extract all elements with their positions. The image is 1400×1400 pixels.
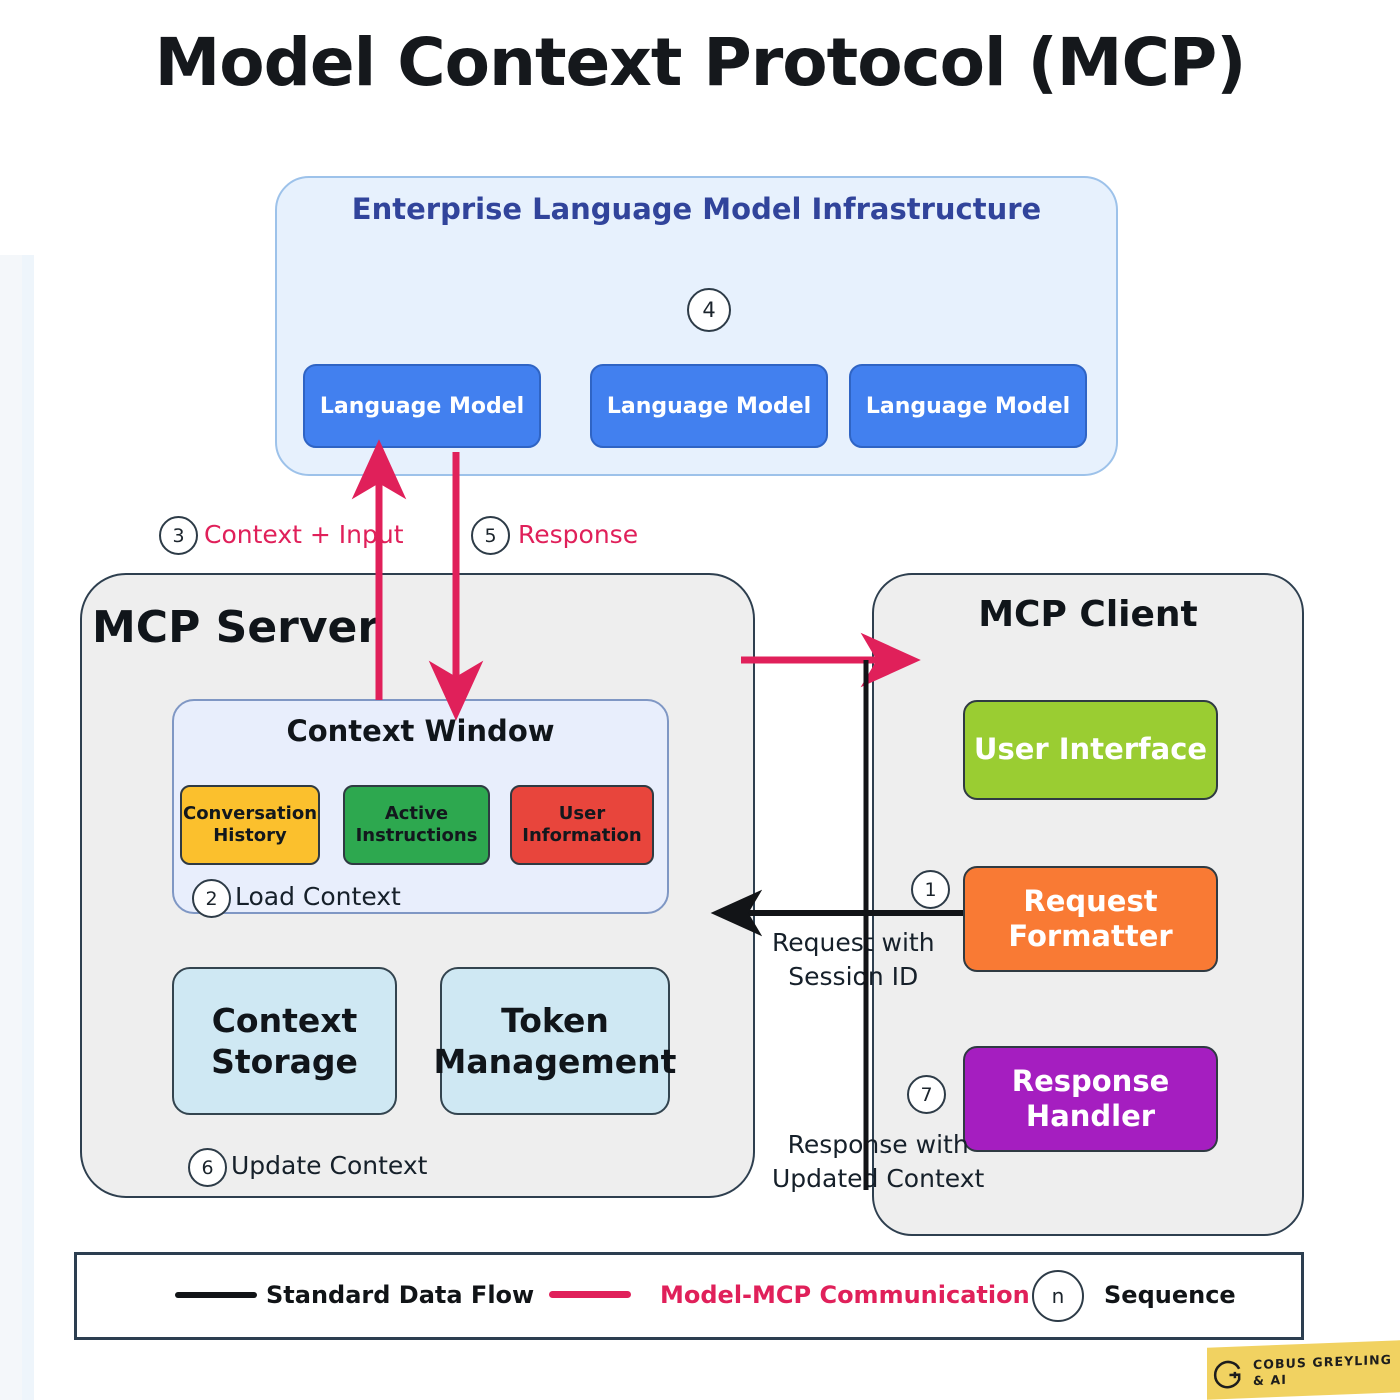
sequence-badge-3-text: 3 (172, 525, 184, 547)
store-line-1: Context (212, 1000, 358, 1041)
flow-label-context-input: Context + Input (204, 520, 404, 549)
language-model-box-3[interactable]: Language Model (849, 364, 1087, 448)
client-box-line-1: User Interface (974, 732, 1207, 767)
language-model-label: Language Model (866, 394, 1070, 419)
flow-label-response: Response (518, 520, 638, 549)
sequence-badge-5: 5 (471, 516, 510, 555)
left-edge-strip (0, 255, 22, 1400)
step-label-load-context: Load Context (235, 882, 401, 911)
client-box-line-2: Formatter (1008, 919, 1172, 954)
connector-label-request-session: Request with Session ID (772, 926, 935, 994)
context-storage-box[interactable]: Context Storage (172, 967, 397, 1115)
chip-line-1: User (559, 803, 605, 825)
sequence-badge-7: 7 (907, 1075, 946, 1114)
language-model-label: Language Model (607, 394, 811, 419)
request-formatter-box[interactable]: Request Formatter (963, 866, 1218, 972)
user-interface-box[interactable]: User Interface (963, 700, 1218, 800)
sequence-badge-7-text: 7 (920, 1084, 932, 1106)
legend-sequence-badge-text: n (1052, 1284, 1065, 1308)
language-model-box-1[interactable]: Language Model (303, 364, 541, 448)
sequence-badge-2-text: 2 (205, 888, 217, 910)
legend-model-mcp-label: Model-MCP Communication (660, 1281, 1030, 1309)
sequence-badge-4-text: 4 (702, 298, 715, 322)
left-edge-strip-inner (22, 255, 34, 1400)
connector-label-response-context: Response with Updated Context (772, 1128, 984, 1196)
context-chip-active-instructions[interactable]: Active Instructions (343, 785, 490, 865)
context-chip-user-information[interactable]: User Information (510, 785, 654, 865)
chip-line-2: History (213, 825, 287, 847)
connector-label-line-2: Session ID (772, 960, 935, 994)
sequence-badge-6-text: 6 (201, 1157, 213, 1179)
step-label-update-context: Update Context (231, 1151, 427, 1180)
client-box-line-1: Request (1023, 884, 1157, 919)
connector-label-line-1: Request with (772, 926, 935, 960)
sequence-badge-1: 1 (911, 870, 950, 909)
chip-line-2: Information (522, 825, 641, 847)
sequence-badge-5-text: 5 (484, 525, 496, 547)
sequence-badge-4: 4 (687, 288, 731, 332)
connector-label-line-2: Updated Context (772, 1162, 984, 1196)
response-handler-box[interactable]: Response Handler (963, 1046, 1218, 1152)
legend-sequence-badge: n (1032, 1270, 1084, 1322)
diagram-canvas: Model Context Protocol (MCP) Enterprise … (0, 0, 1400, 1400)
language-model-label: Language Model (320, 394, 524, 419)
infrastructure-title: Enterprise Language Model Infrastructure (275, 192, 1118, 226)
store-line-2: Management (434, 1041, 677, 1082)
chip-line-1: Conversation (183, 803, 317, 825)
sequence-badge-2: 2 (192, 879, 231, 918)
language-model-box-2[interactable]: Language Model (590, 364, 828, 448)
context-window-title: Context Window (172, 714, 669, 748)
legend-model-mcp-line-icon (549, 1291, 631, 1298)
sequence-badge-6: 6 (188, 1148, 227, 1187)
page-title: Model Context Protocol (MCP) (0, 24, 1400, 101)
client-box-line-1: Response (1012, 1064, 1170, 1099)
sequence-badge-3: 3 (159, 516, 198, 555)
watermark-text: COBUS GREYLING & AI (1253, 1352, 1392, 1389)
mcp-server-title: MCP Server (92, 602, 379, 653)
cobus-greyling-g-logo-icon (1213, 1358, 1244, 1390)
legend-standard-flow-label: Standard Data Flow (266, 1281, 534, 1309)
legend-standard-flow-line-icon (175, 1292, 257, 1298)
mcp-client-title: MCP Client (872, 594, 1304, 635)
context-chip-conversation-history[interactable]: Conversation History (180, 785, 320, 865)
store-line-1: Token (501, 1000, 609, 1041)
client-box-line-2: Handler (1026, 1099, 1155, 1134)
chip-line-2: Instructions (356, 825, 478, 847)
chip-line-1: Active (385, 803, 448, 825)
sequence-badge-1-text: 1 (924, 879, 936, 901)
connector-label-line-1: Response with (772, 1128, 984, 1162)
watermark: COBUS GREYLING & AI (1213, 1344, 1400, 1397)
legend-sequence-label: Sequence (1104, 1281, 1236, 1309)
token-management-box[interactable]: Token Management (440, 967, 670, 1115)
store-line-2: Storage (211, 1041, 358, 1082)
